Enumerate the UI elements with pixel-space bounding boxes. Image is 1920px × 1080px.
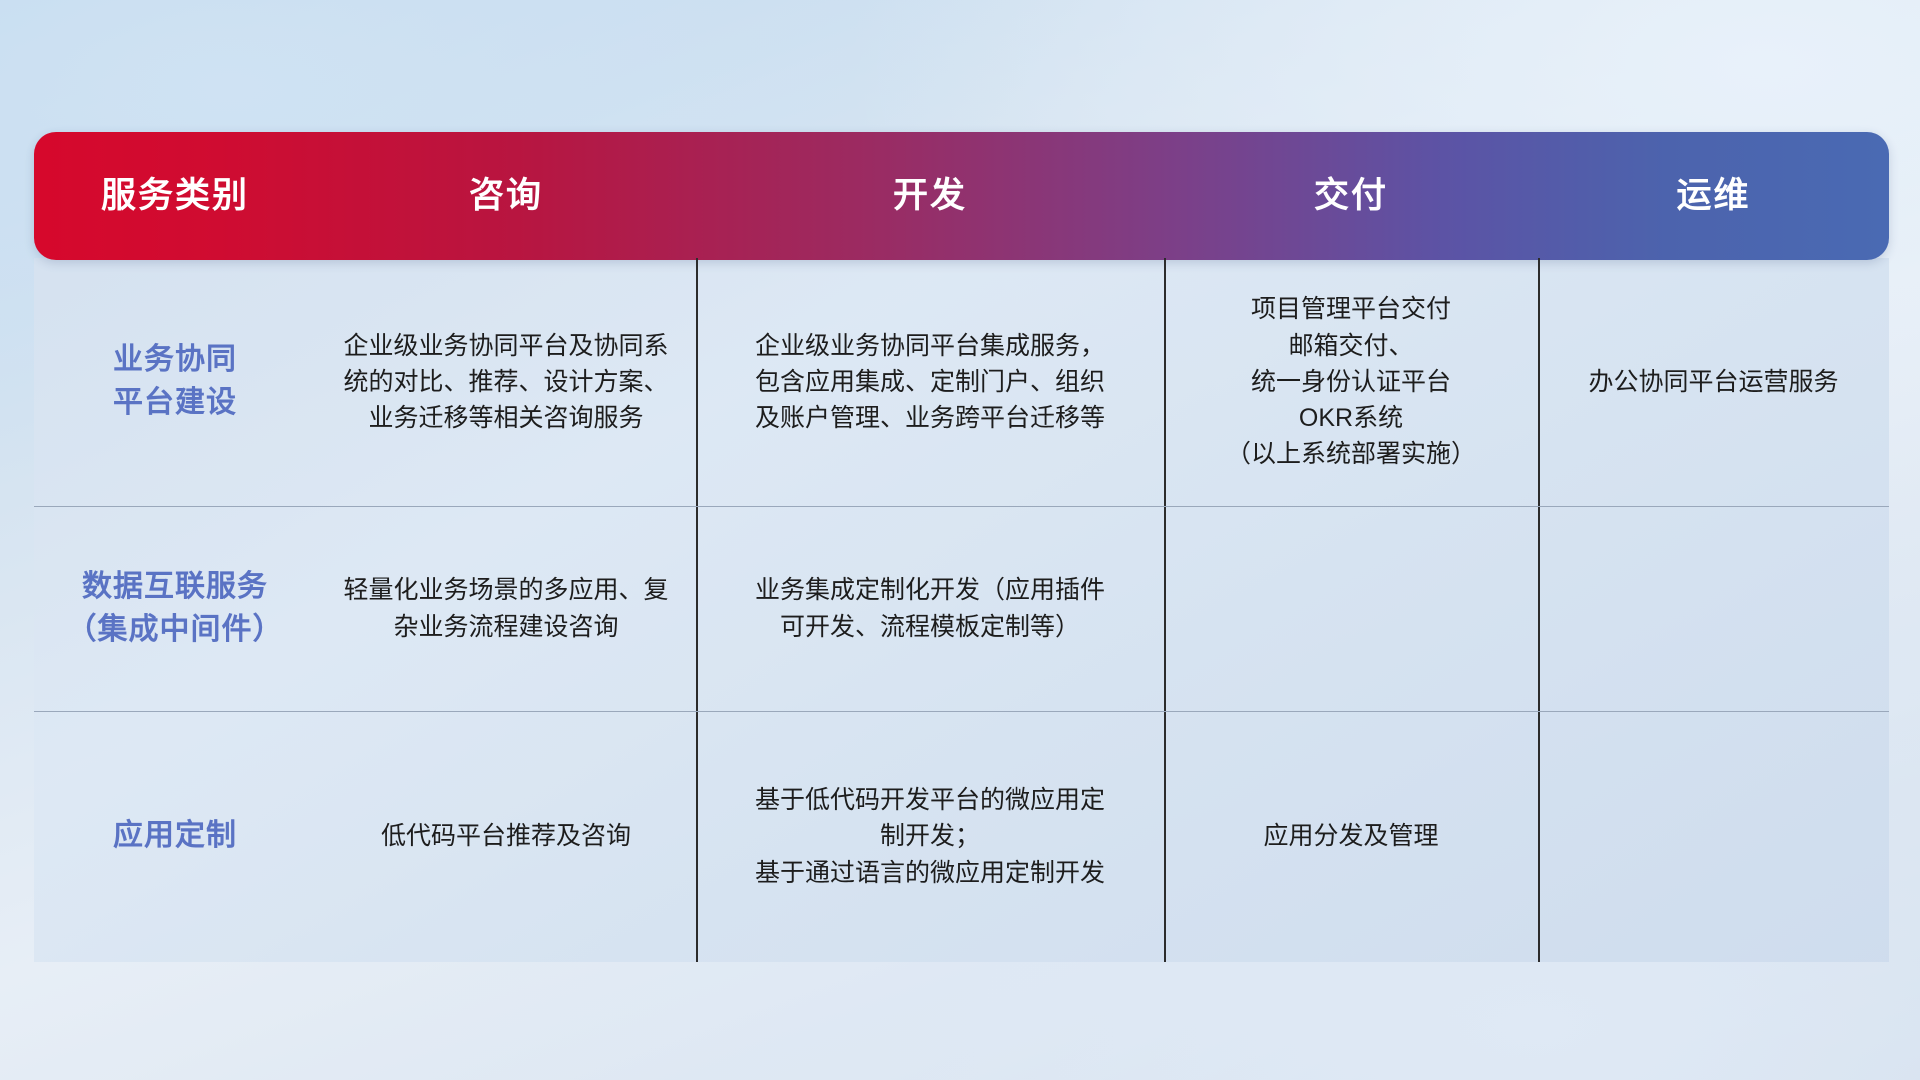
cell-development: 基于低代码开发平台的微应用定 制开发； 基于通过语言的微应用定制开发 — [696, 711, 1164, 962]
table-row: 业务协同 平台建设 企业级业务协同平台及协同系 统的对比、推荐、设计方案、 业务… — [34, 258, 1889, 506]
cell-operations — [1538, 506, 1889, 711]
table-row: 应用定制 低代码平台推荐及咨询 基于低代码开发平台的微应用定 制开发； 基于通过… — [34, 711, 1889, 962]
header-cell-operations: 运维 — [1538, 177, 1889, 216]
header-cell-service-category: 服务类别 — [34, 177, 316, 216]
cell-category: 业务协同 平台建设 — [34, 258, 316, 506]
cell-operations: 办公协同平台运营服务 — [1538, 258, 1889, 506]
slide-canvas: 服务类别 咨询 开发 交付 运维 业务协同 平台建设 企业级业务协同平台及协同系… — [0, 0, 1920, 1080]
cell-consulting: 轻量化业务场景的多应用、复 杂业务流程建设咨询 — [316, 506, 696, 711]
header-cell-delivery: 交付 — [1164, 177, 1538, 216]
cell-category: 应用定制 — [34, 711, 316, 962]
table-header-row: 服务类别 咨询 开发 交付 运维 — [34, 132, 1889, 260]
header-cell-consulting: 咨询 — [316, 177, 696, 216]
cell-category: 数据互联服务 （集成中间件） — [34, 506, 316, 711]
cell-delivery: 项目管理平台交付 邮箱交付、 统一身份认证平台 OKR系统 （以上系统部署实施） — [1164, 258, 1538, 506]
table-body-rows: 业务协同 平台建设 企业级业务协同平台及协同系 统的对比、推荐、设计方案、 业务… — [34, 258, 1889, 962]
cell-development: 业务集成定制化开发（应用插件 可开发、流程模板定制等） — [696, 506, 1164, 711]
header-cell-development: 开发 — [696, 177, 1164, 216]
table-row: 数据互联服务 （集成中间件） 轻量化业务场景的多应用、复 杂业务流程建设咨询 业… — [34, 506, 1889, 711]
cell-delivery — [1164, 506, 1538, 711]
cell-consulting: 低代码平台推荐及咨询 — [316, 711, 696, 962]
cell-development: 企业级业务协同平台集成服务， 包含应用集成、定制门户、组织 及账户管理、业务跨平… — [696, 258, 1164, 506]
cell-operations — [1538, 711, 1889, 962]
cell-delivery: 应用分发及管理 — [1164, 711, 1538, 962]
cell-consulting: 企业级业务协同平台及协同系 统的对比、推荐、设计方案、 业务迁移等相关咨询服务 — [316, 258, 696, 506]
